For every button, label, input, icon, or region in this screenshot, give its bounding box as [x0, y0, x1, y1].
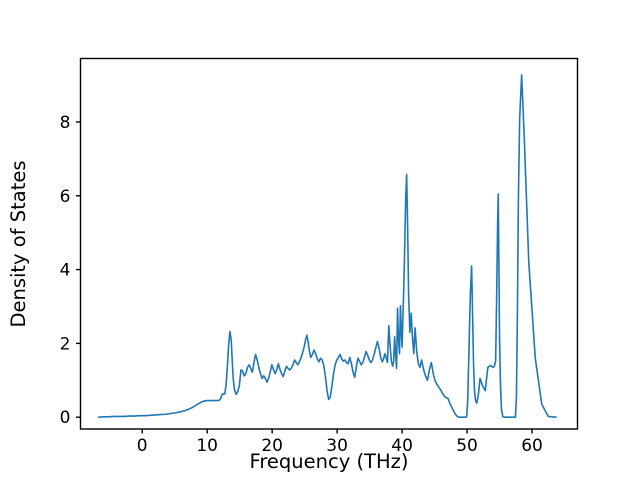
- y-tick-label: 8: [60, 113, 71, 133]
- y-tick-label: 4: [60, 261, 71, 281]
- y-axis-title: Density of States: [7, 160, 30, 327]
- x-tick-label: 0: [137, 436, 148, 456]
- x-tick-label: 10: [196, 436, 218, 456]
- figure-canvas: 0102030405060 02468 Frequency (THz) Dens…: [0, 0, 640, 480]
- x-tick-label: 60: [521, 436, 543, 456]
- y-tick-label: 2: [60, 334, 71, 354]
- dos-line-chart: 0102030405060 02468 Frequency (THz) Dens…: [0, 0, 640, 480]
- y-tick-label: 0: [60, 408, 71, 428]
- x-tick-label: 50: [456, 436, 478, 456]
- x-axis-title: Frequency (THz): [250, 450, 409, 473]
- y-tick-label: 6: [60, 187, 71, 207]
- axes-frame: [81, 59, 578, 430]
- dos-curve: [99, 75, 556, 417]
- y-axis-ticks: 02468: [60, 113, 81, 428]
